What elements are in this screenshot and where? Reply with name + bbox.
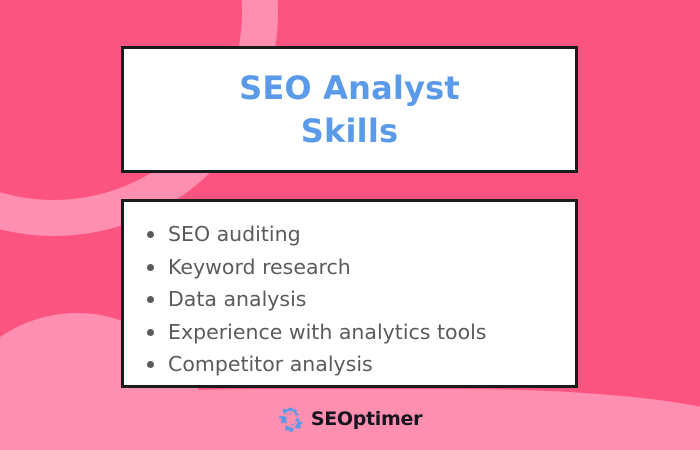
- bullet-icon: [147, 264, 154, 271]
- list-item: Data analysis: [168, 283, 575, 316]
- bullet-icon: [147, 329, 154, 336]
- bullet-icon: [147, 296, 154, 303]
- list-item: Competitor analysis: [168, 348, 575, 381]
- list-item: Experience with analytics tools: [168, 316, 575, 349]
- list-item-label: Keyword research: [168, 255, 351, 279]
- brand-wordmark: SEOptimer: [311, 410, 422, 429]
- list-item-label: Competitor analysis: [168, 352, 373, 376]
- skills-list: SEO auditing Keyword research Data analy…: [124, 218, 575, 381]
- skills-card: SEO auditing Keyword research Data analy…: [121, 199, 578, 388]
- list-item: SEO auditing: [168, 218, 575, 251]
- slide-canvas: SEO Analyst Skills SEO auditing Keyword …: [0, 0, 700, 450]
- list-item-label: Experience with analytics tools: [168, 320, 487, 344]
- list-item: Keyword research: [168, 251, 575, 284]
- seoptimer-gear-arrow-icon: [278, 406, 304, 432]
- bullet-icon: [147, 361, 154, 368]
- list-item-label: SEO auditing: [168, 222, 301, 246]
- page-title-line-2: Skills: [301, 110, 398, 153]
- page-title-line-1: SEO Analyst: [239, 67, 460, 110]
- title-card: SEO Analyst Skills: [121, 46, 578, 173]
- bullet-icon: [147, 231, 154, 238]
- list-item-label: Data analysis: [168, 287, 306, 311]
- brand-logo: SEOptimer: [0, 402, 700, 436]
